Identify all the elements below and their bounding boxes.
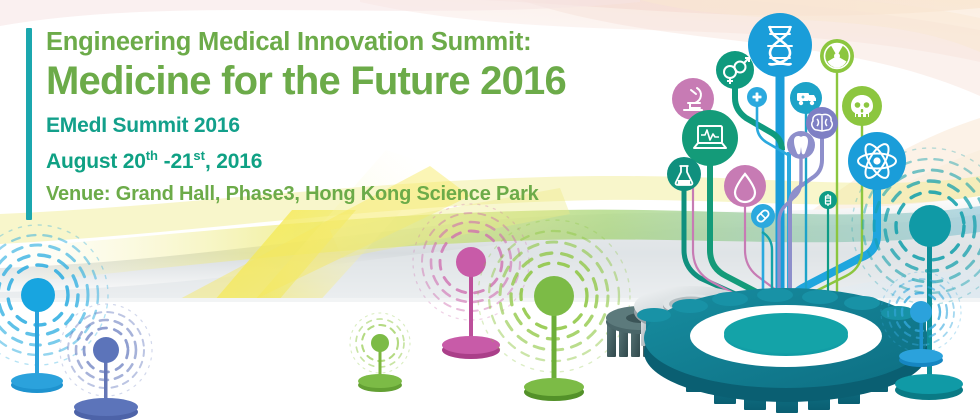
dandelion-pink [413, 204, 529, 359]
dandelion-group [0, 204, 630, 420]
event-banner: Engineering Medical Innovation Summit: M… [0, 0, 980, 420]
pill-icon [751, 204, 775, 228]
event-date-prefix: August 20 [46, 150, 146, 173]
syringe-icon [819, 191, 837, 209]
tooth-icon [787, 131, 815, 159]
ecg-laptop-icon [682, 110, 738, 166]
radiation-icon [820, 39, 854, 73]
event-date-ordinal-1: th [146, 148, 158, 163]
event-date-suffix: , 2016 [205, 150, 262, 173]
event-subtitle-line: Engineering Medical Innovation Summit: [46, 28, 531, 57]
event-short-name: EMedI Summit 2016 [46, 114, 240, 138]
event-date-middle: -21 [158, 150, 193, 173]
first-aid-icon [747, 87, 767, 107]
dandelion-green-large [478, 220, 630, 401]
gender-icon [716, 51, 754, 89]
event-venue: Venue: Grand Hall, Phase3, Hong Kong Sci… [46, 183, 539, 206]
event-title: Medicine for the Future 2016 [46, 59, 566, 104]
main-gear [637, 288, 928, 413]
dandelion-green-tiny [350, 313, 410, 392]
circuit-tree-branches [684, 45, 877, 308]
flask-icon [667, 157, 701, 191]
dandelion-blue-small [60, 304, 152, 420]
accent-bar [26, 28, 32, 220]
skull-icon [842, 86, 882, 126]
gear-assembly [606, 286, 928, 413]
event-date: August 20th -21st, 2016 [46, 148, 262, 174]
event-date-ordinal-2: st [193, 148, 205, 163]
brain-icon [806, 107, 838, 139]
headline-block: Engineering Medical Innovation Summit: M… [26, 26, 646, 222]
blood-drop-icon [724, 165, 766, 207]
atom-icon [848, 132, 906, 190]
dna-icon [748, 13, 812, 77]
